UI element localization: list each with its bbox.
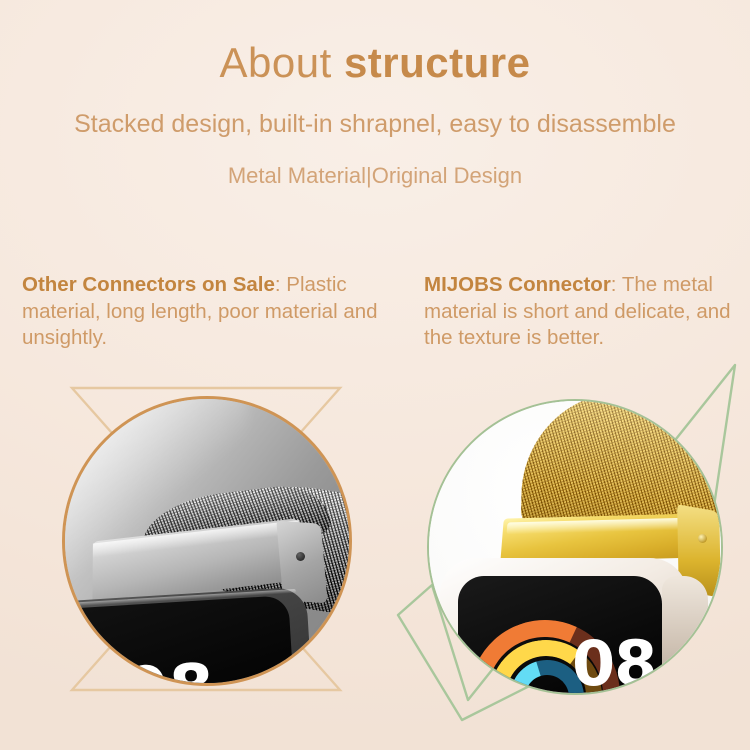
silver-connector-pin (296, 552, 305, 561)
gold-connector-bar (500, 513, 703, 562)
dark-watch-time: 08 (122, 656, 216, 686)
product-feature-page: About structure Stacked design, built-in… (0, 0, 750, 750)
gold-connector-pin (698, 534, 707, 543)
white-watch-hours: 08 (572, 634, 656, 694)
mijobs-connector-photo: 08 16 (427, 399, 723, 695)
white-watch-side (662, 576, 708, 692)
dark-watch-crown (290, 658, 305, 686)
other-connector-photo: 08 (62, 396, 352, 686)
